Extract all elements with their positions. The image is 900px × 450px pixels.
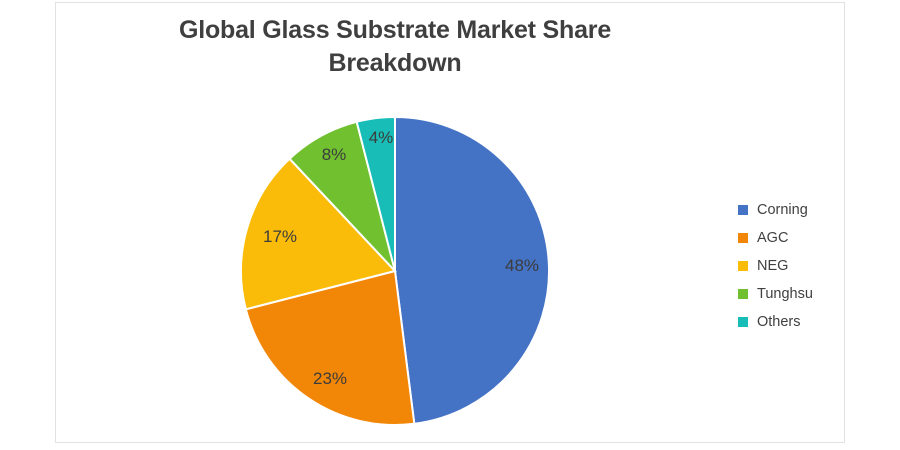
legend-item-tunghsu[interactable]: Tunghsu [738,280,858,308]
chart-legend: Corning AGC NEG Tunghsu Others [738,196,858,336]
legend-label-corning: Corning [757,203,808,218]
chart-screenshot: Global Glass Substrate Market Share Brea… [0,0,900,450]
chart-title: Global Glass Substrate Market Share Brea… [70,14,720,80]
legend-item-neg[interactable]: NEG [738,252,858,280]
legend-item-others[interactable]: Others [738,308,858,336]
legend-swatch-agc [738,233,748,243]
pie-svg [240,116,550,426]
pie-slice-corning[interactable] [395,117,549,424]
chart-title-line-1: Global Glass Substrate Market Share [70,14,720,47]
chart-title-line-2: Breakdown [70,47,720,80]
pie-slice-group [241,117,549,425]
legend-swatch-corning [738,205,748,215]
legend-item-agc[interactable]: AGC [738,224,858,252]
legend-label-tunghsu: Tunghsu [757,287,813,302]
legend-label-others: Others [757,315,801,330]
legend-item-corning[interactable]: Corning [738,196,858,224]
legend-label-agc: AGC [757,231,788,246]
legend-label-neg: NEG [757,259,788,274]
pie-chart [240,116,550,426]
legend-swatch-others [738,317,748,327]
legend-swatch-tunghsu [738,289,748,299]
legend-swatch-neg [738,261,748,271]
